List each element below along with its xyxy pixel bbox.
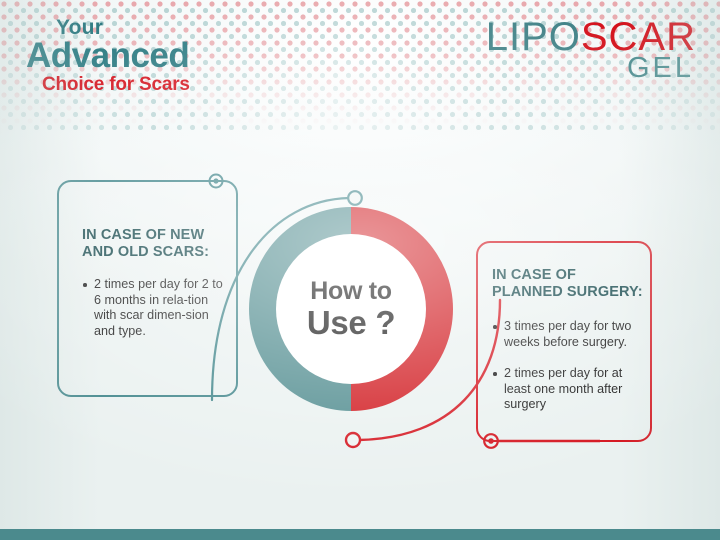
brand-wordmark: LIPOSCAR	[486, 18, 696, 56]
donut-line-use: Use ?	[307, 305, 395, 340]
tagline-line-your: Your	[56, 18, 346, 38]
tagline-line-advanced: Advanced	[26, 39, 346, 72]
donut-line-how-to: How to	[310, 278, 392, 304]
red-hollow-node-icon	[346, 433, 360, 447]
list-item: 3 times per day for two weeks before sur…	[492, 319, 644, 350]
donut-label: How to Use ?	[249, 207, 453, 411]
card-right-title: IN CASE OF PLANNED SURGERY:	[492, 267, 644, 301]
center-donut: How to Use ?	[249, 207, 453, 411]
card-left-bullet-list: 2 times per day for 2 to 6 months in rel…	[82, 277, 228, 339]
list-item: 2 times per day for 2 to 6 months in rel…	[82, 277, 228, 339]
card-right-bullet-list: 3 times per day for two weeks before sur…	[492, 319, 644, 413]
header-tagline: Your Advanced Choice for Scars	[26, 18, 346, 95]
card-new-old-scars: IN CASE OF NEW AND OLD SCARS: 2 times pe…	[57, 180, 238, 397]
brand-lipo-text: LIPO	[486, 15, 581, 59]
teal-hollow-node-icon	[348, 191, 362, 205]
card-right-content: IN CASE OF PLANNED SURGERY: 3 times per …	[492, 267, 644, 413]
infographic-canvas: Your Advanced Choice for Scars LIPOSCAR …	[0, 0, 720, 540]
bottom-accent-bar	[0, 529, 720, 540]
list-item: 2 times per day for at least one month a…	[492, 366, 644, 413]
card-left-title: IN CASE OF NEW AND OLD SCARS:	[82, 227, 228, 261]
card-left-content: IN CASE OF NEW AND OLD SCARS: 2 times pe…	[82, 227, 228, 339]
tagline-line-choice: Choice for Scars	[42, 75, 346, 95]
brand-logo: LIPOSCAR GEL	[486, 18, 696, 82]
card-planned-surgery: IN CASE OF PLANNED SURGERY: 3 times per …	[476, 241, 652, 442]
